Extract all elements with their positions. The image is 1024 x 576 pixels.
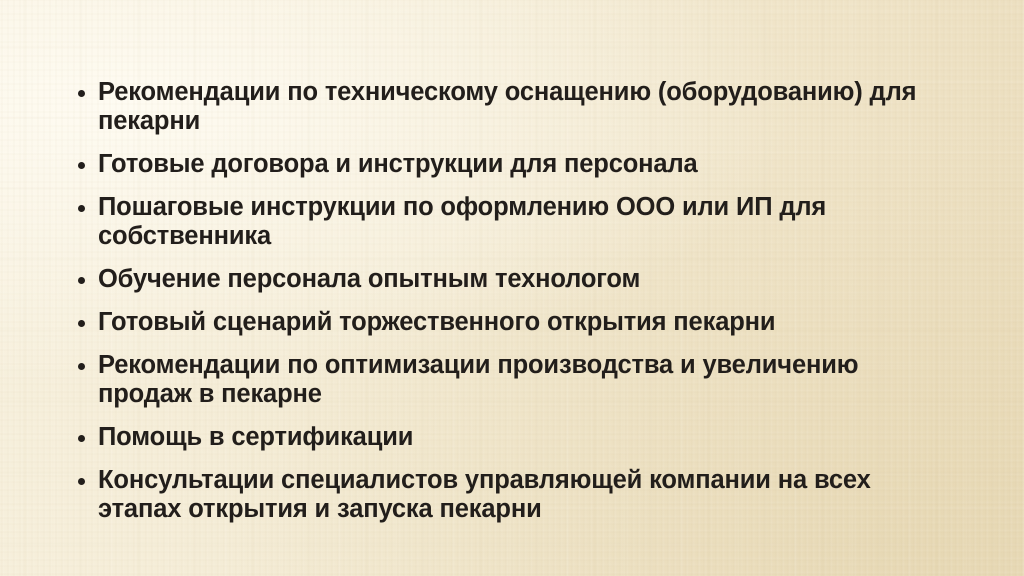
bullet-list: Рекомендации по техническому оснащению (… <box>76 78 922 524</box>
list-item: Готовый сценарий торжественного открытия… <box>76 308 922 337</box>
list-item-label: Консультации специалистов управляющей ко… <box>98 466 922 524</box>
list-item: Пошаговые инструкции по оформлению ООО и… <box>76 193 922 251</box>
list-item-label: Помощь в сертификации <box>98 423 922 452</box>
list-item: Готовые договора и инструкции для персон… <box>76 150 922 179</box>
bullet-dot-icon <box>78 478 85 485</box>
bullet-dot-icon <box>78 205 85 212</box>
bullet-dot-icon <box>78 435 85 442</box>
list-item-label: Готовый сценарий торжественного открытия… <box>98 308 922 337</box>
list-item-label: Рекомендации по техническому оснащению (… <box>98 78 922 136</box>
bullet-dot-icon <box>78 277 85 284</box>
list-item: Помощь в сертификации <box>76 423 922 452</box>
list-item: Рекомендации по оптимизации производства… <box>76 351 922 409</box>
bullet-dot-icon <box>78 162 85 169</box>
list-item: Консультации специалистов управляющей ко… <box>76 466 922 524</box>
list-item-label: Обучение персонала опытным технологом <box>98 265 922 294</box>
list-item-label: Рекомендации по оптимизации производства… <box>98 351 922 409</box>
bullet-dot-icon <box>78 363 85 370</box>
slide-canvas: Рекомендации по техническому оснащению (… <box>0 0 1024 576</box>
bullet-dot-icon <box>78 90 85 97</box>
list-item-label: Готовые договора и инструкции для персон… <box>98 150 922 179</box>
list-item: Обучение персонала опытным технологом <box>76 265 922 294</box>
list-item: Рекомендации по техническому оснащению (… <box>76 78 922 136</box>
list-item-label: Пошаговые инструкции по оформлению ООО и… <box>98 193 922 251</box>
bullet-dot-icon <box>78 320 85 327</box>
